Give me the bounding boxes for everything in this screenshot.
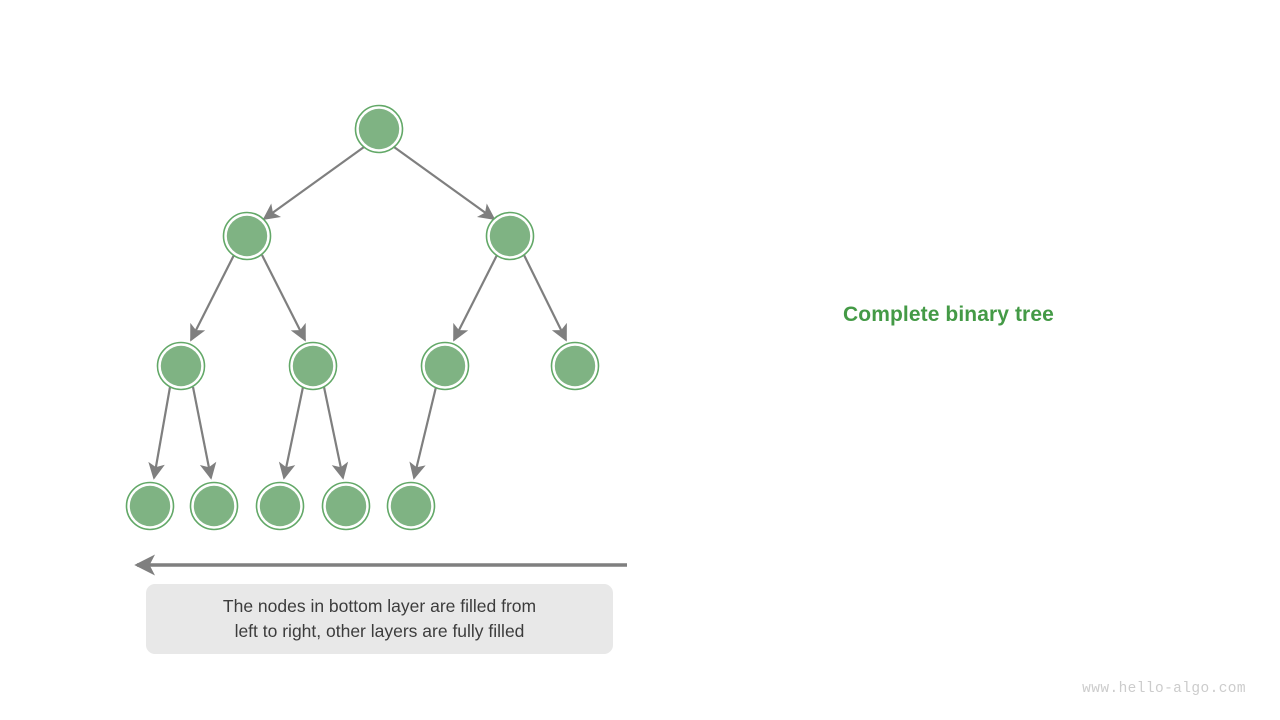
figure-title: Complete binary tree [843, 303, 1054, 327]
tree-node-l4-4[interactable] [388, 483, 435, 530]
site-watermark: www.hello-algo.com [1082, 681, 1246, 697]
tree-edge-root-to-right [394, 147, 494, 219]
tree-edge-l3a-to-left [154, 387, 170, 478]
tree-node-group [127, 106, 599, 530]
tree-edge-l2b-to-right [524, 255, 566, 340]
tree-edge-l3b-to-left [284, 387, 303, 478]
tree-edge-l2a-to-right [262, 255, 305, 340]
tree-edge-l2b-to-left [454, 255, 497, 340]
tree-node-l3-1[interactable] [290, 343, 337, 390]
tree-node-l2-1[interactable] [487, 213, 534, 260]
tree-node-l4-1[interactable] [191, 483, 238, 530]
caption-box: The nodes in bottom layer are filled fro… [146, 584, 613, 654]
diagram-canvas: Complete binary tree The nodes in bottom… [0, 0, 1280, 720]
tree-edge-root-to-left [264, 147, 364, 219]
tree-node-l3-2[interactable] [422, 343, 469, 390]
tree-node-l4-0[interactable] [127, 483, 174, 530]
tree-node-root[interactable] [356, 106, 403, 153]
tree-edge-l3c-to-left [414, 387, 436, 478]
tree-node-l4-2[interactable] [257, 483, 304, 530]
tree-node-l3-0[interactable] [158, 343, 205, 390]
tree-edge-group [154, 147, 566, 478]
tree-edge-l2a-to-left [191, 255, 234, 340]
tree-edge-l3b-to-right [324, 387, 343, 478]
tree-edge-l3a-to-right [193, 387, 211, 478]
tree-node-l4-3[interactable] [323, 483, 370, 530]
caption-text: The nodes in bottom layer are filled fro… [223, 594, 536, 645]
tree-node-l3-3[interactable] [552, 343, 599, 390]
tree-node-l2-0[interactable] [224, 213, 271, 260]
